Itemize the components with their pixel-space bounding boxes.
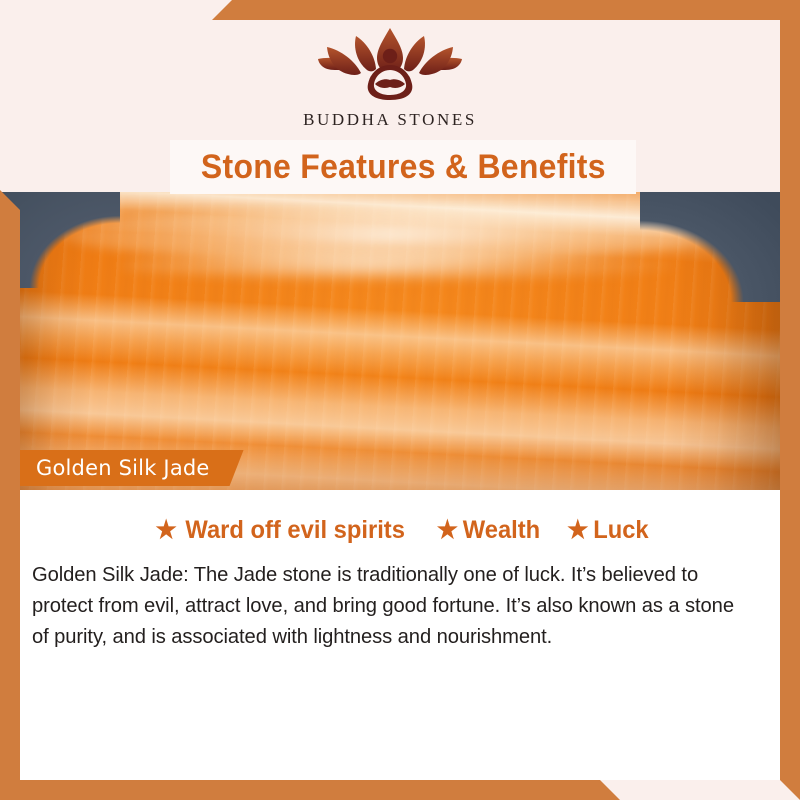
star-icon: ★ [567, 518, 588, 543]
benefits-list: ★ Ward off evil spirits ★ Wealth ★ Luck [20, 516, 780, 545]
stone-photo [0, 192, 780, 490]
benefit-item-1: ★ Ward off evil spirits [156, 516, 405, 545]
infographic-canvas: BUDDHA STONES Stone Features & Benefits … [0, 0, 800, 800]
description-text: Golden Silk Jade: The Jade stone is trad… [32, 559, 755, 652]
benefit-label-2: Wealth [463, 516, 540, 545]
brand-wordmark: BUDDHA STONES [303, 110, 477, 130]
benefit-item-2: ★ Wealth [437, 516, 540, 545]
frame-left-bar [0, 190, 20, 800]
page-title: Stone Features & Benefits [201, 148, 606, 187]
stone-highlight-lower [120, 252, 680, 278]
frame-right-bar [780, 0, 800, 800]
stone-name-label: Golden Silk Jade [36, 456, 210, 480]
lotus-meditation-icon [315, 26, 465, 108]
stone-name-badge: Golden Silk Jade [20, 450, 244, 486]
benefit-item-3: ★ Luck [567, 516, 648, 545]
description-area: ★ Ward off evil spirits ★ Wealth ★ Luck … [20, 490, 780, 780]
frame-bottom-bar [0, 780, 800, 800]
benefit-label-3: Luck [593, 516, 648, 545]
photo-corner-right [640, 192, 780, 302]
star-icon: ★ [156, 518, 177, 543]
benefit-label-1: Ward off evil spirits [186, 516, 406, 545]
frame-top-bar [0, 0, 800, 20]
star-icon: ★ [437, 518, 458, 543]
title-band: Stone Features & Benefits [170, 140, 636, 194]
